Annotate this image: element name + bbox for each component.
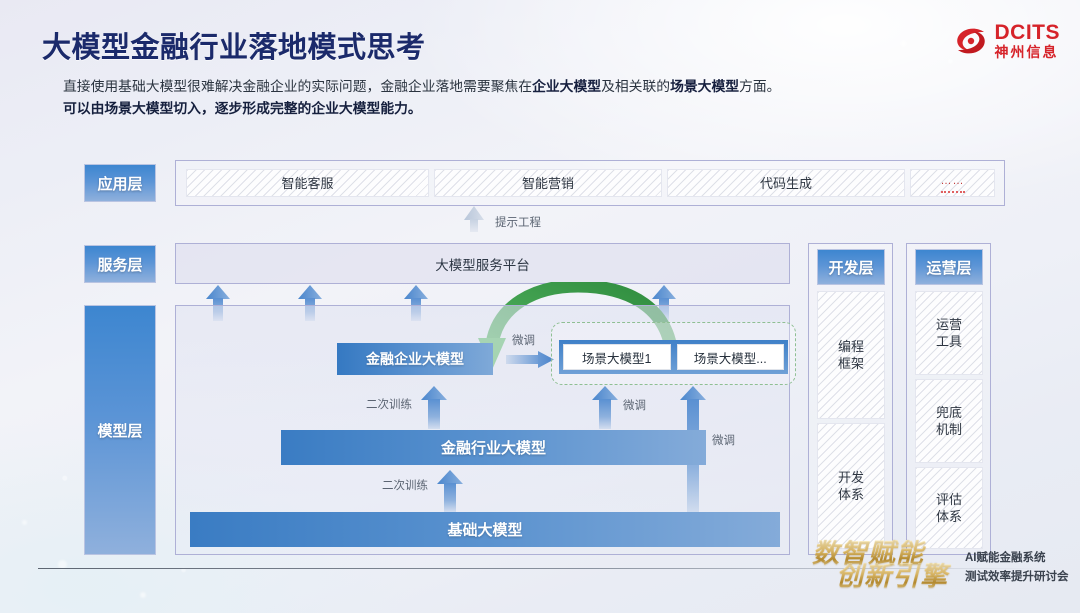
operation-item-2-label: 评估 体系	[936, 491, 962, 525]
layer-tag-model: 模型层	[84, 305, 156, 555]
scene-model-0-label: 场景大模型1	[582, 348, 651, 367]
application-item-3-label: ……	[941, 173, 965, 193]
foundation-model-label: 基础大模型	[447, 519, 522, 540]
layer-tag-development-label: 开发层	[828, 257, 873, 278]
scene-model-1-label: 场景大模型...	[694, 348, 767, 367]
development-item-0[interactable]: 编程 框架	[817, 291, 885, 419]
application-item-2-label: 代码生成	[760, 175, 812, 192]
layer-tag-operation: 运营层	[915, 249, 983, 285]
foundation-to-industry-arrow	[437, 470, 463, 512]
prompt-engineering-arrow-icon	[464, 206, 484, 232]
finetune-arrow-icon	[506, 351, 554, 368]
operation-item-2[interactable]: 评估 体系	[915, 467, 983, 549]
industry-model-box[interactable]: 金融行业大模型	[281, 430, 706, 465]
operation-item-1-label: 兜底 机制	[936, 404, 962, 438]
scene-model-1[interactable]: 场景大模型...	[677, 344, 785, 370]
application-item-3[interactable]: ……	[910, 169, 995, 197]
operation-item-1[interactable]: 兜底 机制	[915, 379, 983, 463]
development-item-1[interactable]: 开发 体系	[817, 423, 885, 549]
service-platform-label: 大模型服务平台	[435, 254, 530, 274]
event-title: AI赋能金融系统 测试效率提升研讨会	[965, 549, 1069, 587]
enterprise-model-label: 金融企业大模型	[366, 349, 464, 369]
application-item-1-label: 智能营销	[522, 175, 574, 192]
service-platform-box[interactable]: 大模型服务平台	[175, 243, 790, 284]
scene-model-container: 场景大模型1 场景大模型...	[559, 340, 788, 374]
foundation-model-box[interactable]: 基础大模型	[190, 512, 780, 547]
note-fine-tune-3: 微调	[712, 432, 735, 448]
note-fine-tune-1: 微调	[512, 332, 535, 348]
event-title-line-2: 测试效率提升研讨会	[965, 568, 1069, 587]
operation-item-0-label: 运营 工具	[936, 316, 962, 350]
event-title-line-1: AI赋能金融系统	[965, 549, 1069, 568]
layer-tag-model-label: 模型层	[97, 420, 142, 441]
application-item-0-label: 智能客服	[281, 175, 333, 192]
industry-to-enterprise-arrow	[421, 386, 447, 429]
scene-model-0[interactable]: 场景大模型1	[563, 344, 671, 370]
layer-tag-service-label: 服务层	[97, 254, 142, 275]
event-calligraphy: 数智赋能 创新引擎	[812, 540, 972, 602]
layer-tag-operation-label: 运营层	[926, 257, 971, 278]
development-item-0-label: 编程 框架	[838, 338, 864, 372]
operation-item-0[interactable]: 运营 工具	[915, 291, 983, 375]
note-fine-tune-2: 微调	[623, 397, 646, 413]
note-prompt-engineering: 提示工程	[495, 214, 541, 230]
layer-tag-application-label: 应用层	[97, 173, 142, 194]
development-item-1-label: 开发 体系	[838, 469, 864, 503]
calligraphy-line-2: 创新引擎	[836, 563, 972, 590]
application-item-0[interactable]: 智能客服	[186, 169, 429, 197]
application-item-2[interactable]: 代码生成	[667, 169, 905, 197]
layer-tag-application: 应用层	[84, 164, 156, 202]
architecture-diagram: 应用层 智能客服 智能营销 代码生成 …… 提示工程 服务层 大模型服务平台	[0, 0, 1080, 613]
industry-to-scene-arrow	[592, 386, 618, 429]
note-second-training-2: 二次训练	[382, 477, 428, 493]
industry-model-label: 金融行业大模型	[441, 437, 546, 458]
note-second-training-1: 二次训练	[366, 396, 412, 412]
layer-tag-development: 开发层	[817, 249, 885, 285]
application-item-1[interactable]: 智能营销	[434, 169, 662, 197]
layer-tag-service: 服务层	[84, 245, 156, 283]
enterprise-model-box[interactable]: 金融企业大模型	[337, 343, 493, 375]
